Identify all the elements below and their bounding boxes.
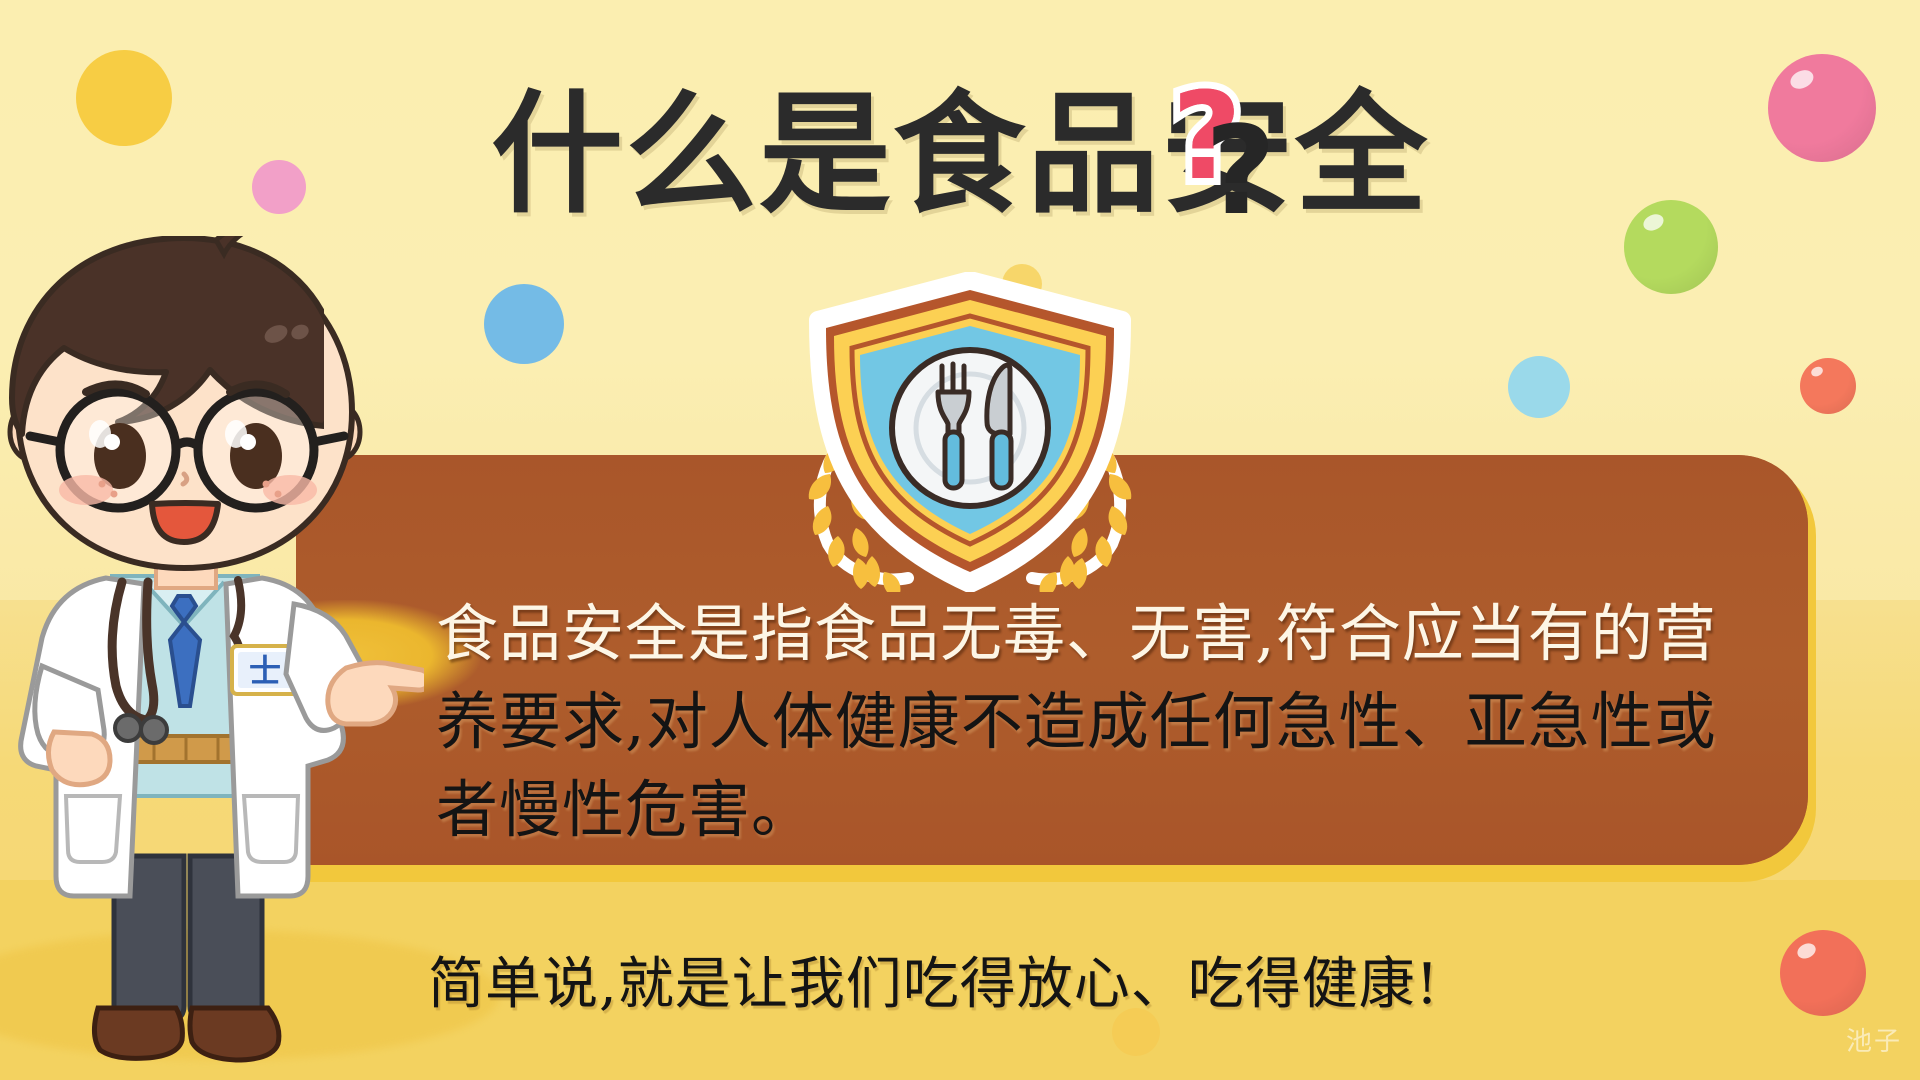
tagline: 简单说,就是让我们吃得放心、吃得健康! xyxy=(428,950,1439,1020)
body-paragraph: 食品安全是指食品无毒、无害,符合应当有的营 养要求,对人体健康不造成任何急性、亚… xyxy=(436,590,1736,854)
ball-orange-right-highlight xyxy=(1810,365,1825,378)
body-line-1: 食品安全是指食品无毒、无害,符合应当有的营 xyxy=(436,590,1736,678)
ball-coral-bottom-highlight xyxy=(1795,940,1818,960)
body-line-2: 养要求,对人体健康不造成任何急性、亚急性或 xyxy=(436,678,1736,766)
page-title: 什么是食品安全 xyxy=(491,80,1429,230)
ball-blue-right xyxy=(1508,356,1570,418)
ball-blue-left xyxy=(484,284,564,364)
question-mark-black: ? xyxy=(1205,110,1276,232)
body-line-3: 者慢性危害。 xyxy=(436,766,1736,854)
svg-text:士: 士 xyxy=(249,652,281,690)
ball-coral-bottom xyxy=(1780,930,1866,1016)
food-safety-shield-icon xyxy=(770,272,1170,592)
cartoon-doctor-boy: 士 xyxy=(0,236,424,1080)
watermark: 池子 xyxy=(1846,1021,1902,1058)
ball-orange-right xyxy=(1800,358,1856,414)
slide-root: 什么是食品安全 ? ? ? xyxy=(0,0,1920,1080)
